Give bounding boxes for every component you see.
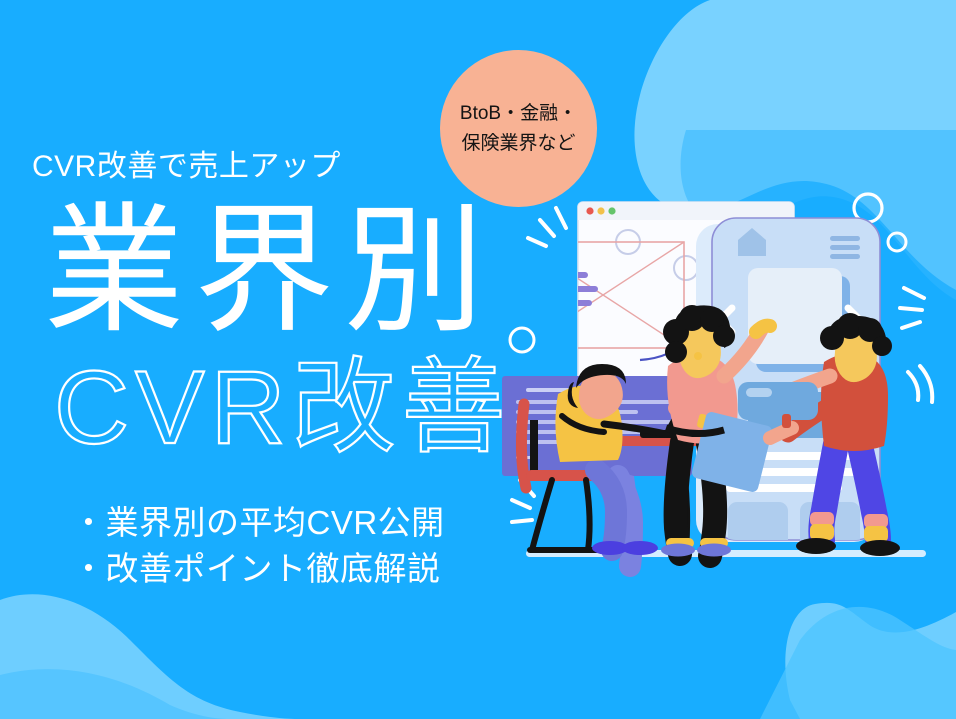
traffic-light-yellow xyxy=(597,207,604,214)
traffic-light-green xyxy=(608,207,615,214)
badge-line-2: 保険業界など xyxy=(461,129,575,159)
hamburger-menu-icon xyxy=(830,236,860,259)
illustration-group xyxy=(500,180,956,600)
spark-lines-right xyxy=(900,288,924,328)
circle-outline-small xyxy=(888,233,906,251)
circle-outline-left xyxy=(510,328,534,352)
list-bars xyxy=(502,272,598,306)
spark-lines-right-lower xyxy=(908,366,932,402)
shoe-right xyxy=(622,541,658,555)
category-badge: BtoB・金融・ 保険業界など xyxy=(440,50,597,207)
traffic-light-red xyxy=(586,207,593,214)
poster-canvas: BtoB・金融・ 保険業界など CVR改善で売上アップ 業界別 CVR改善 ・業… xyxy=(0,0,956,719)
held-device xyxy=(738,382,818,420)
spark-lines-top-left xyxy=(528,208,566,246)
badge-line-1: BtoB・金融・ xyxy=(460,99,577,129)
